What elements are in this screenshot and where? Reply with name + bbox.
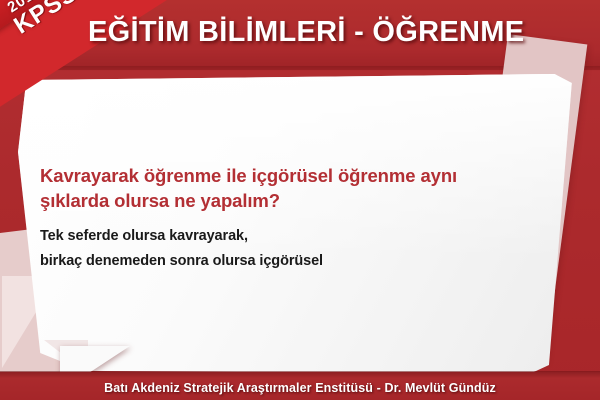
answer-line-1: Tek seferde olursa kavrayarak, [40,224,510,249]
slide-canvas: 2014 KPSS EĞİTİM BİLİMLERİ - ÖĞRENME Kav… [0,0,600,400]
footer-credit-text: Batı Akdeniz Stratejik Araştırmaler Enst… [0,381,600,395]
answer-text: Tek seferde olursa kavrayarak, birkaç de… [40,224,510,274]
slide-title: EĞİTİM BİLİMLERİ - ÖĞRENME [88,14,558,50]
question-text: Kavrayarak öğrenme ile içgörüsel öğrenme… [40,163,510,213]
answer-line-2: birkaç denemeden sonra olursa içgörüsel [40,249,510,274]
